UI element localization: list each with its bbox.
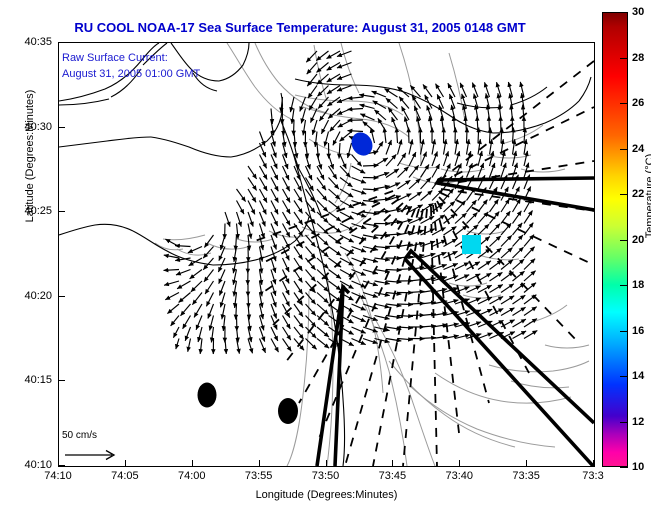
colorbar-tick-20: 20 [632,234,644,246]
current-vector [524,295,536,304]
current-vector [321,120,328,134]
current-vector [294,281,303,294]
current-vector [283,327,291,340]
colorbar-tick-26: 26 [632,97,644,109]
current-vector [203,247,213,259]
current-vector [398,140,402,155]
current-vector [352,247,367,252]
current-vector [271,224,277,238]
current-vector [490,260,502,269]
current-vector [490,199,499,212]
annotation-line-2: August 31, 2005 01:00 GMT [62,68,200,80]
current-vector [294,201,303,214]
current-vector [352,304,366,310]
current-vector [283,339,292,352]
current-vector [501,211,510,223]
current-vector [455,226,467,235]
current-vector [248,178,257,191]
current-vector [432,152,437,167]
current-vector [497,82,502,97]
current-vector [478,212,488,224]
current-vector [501,272,514,281]
y-axis-label: Latitude (Degrees:Minutes) [24,66,36,246]
current-vector [485,82,490,97]
current-vector [501,248,513,258]
current-vector [352,339,366,345]
current-vector [188,247,202,253]
current-vector [352,327,366,333]
current-vector [307,63,317,75]
current-vector [179,293,191,303]
current-vector [171,316,179,326]
current-vector [317,316,329,326]
current-vector [294,304,303,317]
current-vector [489,116,490,132]
current-vector [260,212,266,226]
current-vector [164,270,180,271]
colorbar-tickmark-30 [620,12,628,13]
current-vector [219,270,225,284]
current-vector [329,247,342,256]
x-tick-1: 74:05 [111,470,139,482]
current-vector [524,235,534,247]
current-vector [330,120,340,132]
current-vector [513,283,525,292]
current-vector [501,284,514,293]
y-tickmark-0 [59,465,65,466]
current-vector [398,180,411,189]
current-vector [316,51,328,61]
current-vector [409,152,416,166]
x-tick-8: 73:3 [582,470,603,482]
current-vector [188,339,191,352]
scale-arrow-icon [64,448,124,467]
current-vector [352,316,366,322]
scale-label: 50 cm/s [62,430,97,441]
current-vector [352,178,367,184]
current-vector [177,281,190,289]
current-vector [189,258,202,266]
current-vector [248,166,257,179]
colorbar-label: Temperature (°C) [644,106,651,286]
current-vector [432,240,446,247]
current-vector [513,175,519,189]
colorbar-tick-10: 10 [632,461,644,473]
colorbar-tickmark-24 [620,149,628,150]
current-vector [436,84,444,97]
current-vector [317,293,328,304]
current-vector [283,224,290,238]
current-vector [339,143,340,159]
x-tickmark-6 [459,460,460,466]
current-vector [501,199,509,212]
current-vector [455,188,464,200]
current-vector [513,235,523,247]
current-vector [421,165,430,178]
current-vector [167,304,179,314]
current-vector [398,194,412,201]
current-vector [421,178,431,190]
current-vector [248,189,256,202]
current-vector [490,272,503,281]
current-vector [386,140,391,155]
current-vector [205,281,213,294]
colorbar-tickmark-18 [620,285,628,286]
current-vector [386,154,396,166]
current-vector [329,270,342,279]
current-vector [190,270,202,279]
current-vector [352,166,366,173]
current-vector [327,86,340,94]
current-vector [490,236,501,247]
current-vector [513,223,523,235]
x-tickmark-3 [259,460,260,466]
current-vector [317,327,329,337]
x-tick-3: 73:55 [245,470,273,482]
current-vector [294,270,302,283]
current-vector [327,74,340,82]
current-vector [325,132,329,147]
current-vector [340,189,353,197]
current-vector [524,307,537,316]
current-vector [317,178,326,191]
current-vector [271,212,278,226]
current-vector [340,212,354,219]
current-vector [409,192,422,201]
current-vector [524,223,533,235]
colorbar-tick-14: 14 [632,370,644,382]
current-vector [317,235,328,246]
current-vector [306,293,316,305]
current-vector [340,270,354,278]
colorbar-tickmark-16 [620,331,628,332]
current-vector [444,214,456,224]
current-vector [360,105,375,109]
current-vector [448,83,455,97]
colorbar-tickmark-28 [620,58,628,59]
current-vector [524,175,530,189]
current-vector [501,223,511,235]
current-vector [175,246,191,247]
figure-title: RU COOL NOAA-17 Sea Surface Temperature:… [0,20,600,35]
x-tickmark-1 [125,460,126,466]
colorbar-tick-18: 18 [632,279,644,291]
y-tickmark-2 [59,296,65,297]
radar-beam-wedges [317,178,594,466]
colorbar-tickmark-22 [620,194,628,195]
current-vector [524,319,537,327]
current-vector [329,281,342,290]
colorbar-tick-28: 28 [632,52,644,64]
colorbar-tick-24: 24 [632,143,644,155]
current-vector [363,122,375,132]
current-vector [340,178,352,187]
current-vector [375,158,388,166]
current-vector [306,316,317,327]
x-tickmark-8 [593,460,594,466]
x-tick-2: 74:00 [178,470,206,482]
current-vector [176,339,179,350]
current-vector [206,293,213,307]
current-vector [524,271,536,281]
current-vector [294,247,303,260]
current-vector [306,51,317,62]
colorbar-tickmark-10 [620,467,628,468]
current-vector [183,316,191,329]
x-tick-4: 73:50 [312,470,340,482]
y-tickmark-5 [59,42,65,43]
current-vector [248,212,253,227]
current-vector [352,155,362,167]
current-vector [306,270,316,282]
y-tickmark-4 [59,127,65,128]
current-vector [317,74,329,84]
x-tickmark-7 [526,460,527,466]
current-vector [248,339,253,354]
current-vector [185,327,190,341]
x-tickmark-2 [192,460,193,466]
current-vector [260,178,268,191]
sst-current-figure: RU COOL NOAA-17 Sea Surface Temperature:… [0,0,651,518]
station-marker-cyan [462,235,481,254]
current-vector [352,189,367,194]
current-vector [204,270,214,282]
current-vector [329,178,339,190]
current-vector [307,74,317,86]
current-vector [225,212,230,227]
current-vector [294,224,303,237]
current-vector [513,211,522,224]
current-vector-field [164,51,538,354]
current-vector [317,212,328,223]
current-vector [524,211,533,224]
current-vector [340,258,354,265]
y-tick-2: 40:20 [8,290,52,302]
current-vector [283,258,290,272]
x-tick-6: 73:40 [445,470,473,482]
current-vector [200,339,202,354]
current-vector [260,201,267,215]
y-tickmark-1 [59,380,65,381]
current-vector [192,293,202,305]
x-tick-7: 73:35 [512,470,540,482]
x-tickmark-4 [326,460,327,466]
current-vector [165,293,179,300]
map-plot-area [58,42,595,467]
current-vector [412,96,421,109]
current-vector [237,189,246,202]
current-vector [318,97,328,109]
current-vector [176,270,191,275]
current-vector [460,83,466,97]
current-vector [294,327,304,339]
y-tick-0: 40:10 [8,459,52,471]
current-vector [271,189,278,203]
current-vector [283,270,290,284]
current-vector [327,63,340,71]
current-vector [294,212,303,225]
current-vector [327,51,341,59]
current-vector [319,109,328,122]
current-vector [399,97,409,109]
current-vector [524,199,532,213]
current-vector [409,179,421,189]
current-vector [478,175,485,189]
current-vector [306,247,316,259]
current-vector [283,281,290,295]
current-vector [173,327,179,338]
current-vector [306,201,316,213]
current-vector [333,132,340,146]
y-tick-1: 40:15 [8,374,52,386]
x-tick-0: 74:10 [44,470,72,482]
current-vector [191,281,202,292]
colorbar-tickmark-26 [620,103,628,104]
current-vector [317,258,328,269]
current-vector [260,189,268,203]
colorbar-tick-12: 12 [632,416,644,428]
current-vector [432,164,440,178]
current-vector [327,97,340,106]
x-tickmark-5 [392,460,393,466]
colorbar-tick-30: 30 [632,6,644,18]
current-vector [329,189,341,199]
current-vector [283,201,291,214]
current-vector [513,295,526,304]
current-vector [283,212,291,226]
current-vector [306,304,316,316]
current-vector [472,83,478,97]
current-vector [317,339,329,349]
current-vector [513,247,524,258]
current-vector [352,281,366,287]
current-vector [194,304,202,317]
current-vector [467,163,473,177]
current-vector [164,281,179,285]
current-vector [397,87,409,97]
current-vector [524,247,535,258]
current-vector [467,200,477,212]
current-vector [283,247,290,261]
current-vector [501,175,507,189]
current-vector [225,339,226,354]
current-vector [467,213,478,224]
x-tick-5: 73:45 [379,470,407,482]
current-vector [196,316,202,330]
current-vector [467,128,468,144]
current-vector [524,259,535,270]
current-vector [513,259,525,269]
colorbar-tick-22: 22 [632,188,644,200]
current-vector [348,143,352,158]
current-vector [306,166,313,180]
annotation-line-1: Raw Surface Current: [62,52,168,64]
current-vector [352,235,367,240]
current-vector [294,316,303,329]
current-vector [501,116,502,132]
current-vector [208,304,214,319]
current-vector [317,189,327,201]
station-marker-black-west [198,383,217,408]
current-vector [478,128,479,144]
current-vector [271,201,278,215]
colorbar-tickmark-12 [620,422,628,423]
current-vector [490,128,491,144]
x-axis-label: Longitude (Degrees:Minutes) [58,489,595,501]
current-vector [421,191,433,201]
current-vector [374,110,386,120]
current-vector [237,201,245,215]
current-vector [490,248,502,258]
current-vector [373,101,386,109]
colorbar-tickmark-20 [620,240,628,241]
current-vector [478,224,489,235]
current-vector [478,200,487,212]
current-vector [398,167,409,178]
current-vector [181,304,191,316]
current-vector [248,201,255,215]
station-marker-black-east [278,398,298,424]
y-tickmark-3 [59,211,65,212]
colorbar-tick-16: 16 [632,325,644,337]
current-vector [409,128,410,144]
colorbar-tickmark-14 [620,376,628,377]
current-vector [501,235,512,246]
current-vector [375,142,384,155]
current-vector [308,86,317,99]
current-vector [372,91,386,97]
current-vector [348,131,364,132]
current-vector [237,212,242,227]
map-canvas [59,43,594,466]
current-vector [329,212,342,221]
current-vector [329,201,341,211]
y-tick-5: 40:35 [8,36,52,48]
